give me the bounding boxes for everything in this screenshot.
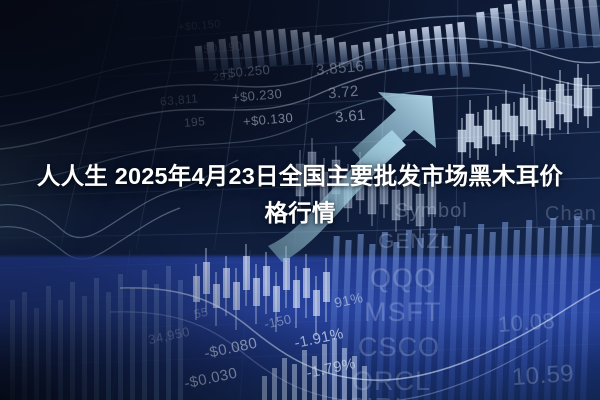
banner-image: +$0.150 +$0.190 291 +$0.250 3.8516 63,81… <box>0 0 600 400</box>
title-text: 人人生 2025年4月23日全国主要批发市场黑木耳价格行情 <box>28 158 572 232</box>
page-title: 人人生 2025年4月23日全国主要批发市场黑木耳价格行情 <box>0 158 600 232</box>
